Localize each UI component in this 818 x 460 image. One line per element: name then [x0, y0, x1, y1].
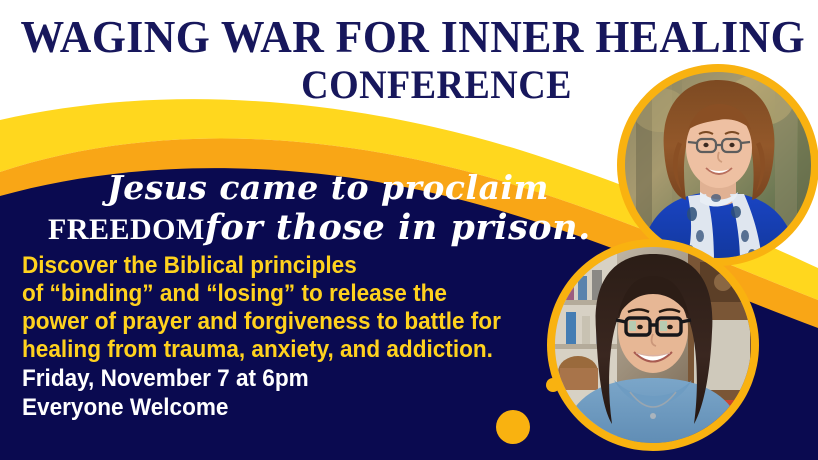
speaker-photo-bottom: [547, 239, 759, 451]
conference-flyer: WAGING WAR FOR INNER HEALING CONFERENCE …: [0, 0, 818, 460]
poster-background-art: [0, 0, 818, 460]
speaker-photo-top: [617, 64, 818, 266]
decor-dot-large: [496, 410, 530, 444]
